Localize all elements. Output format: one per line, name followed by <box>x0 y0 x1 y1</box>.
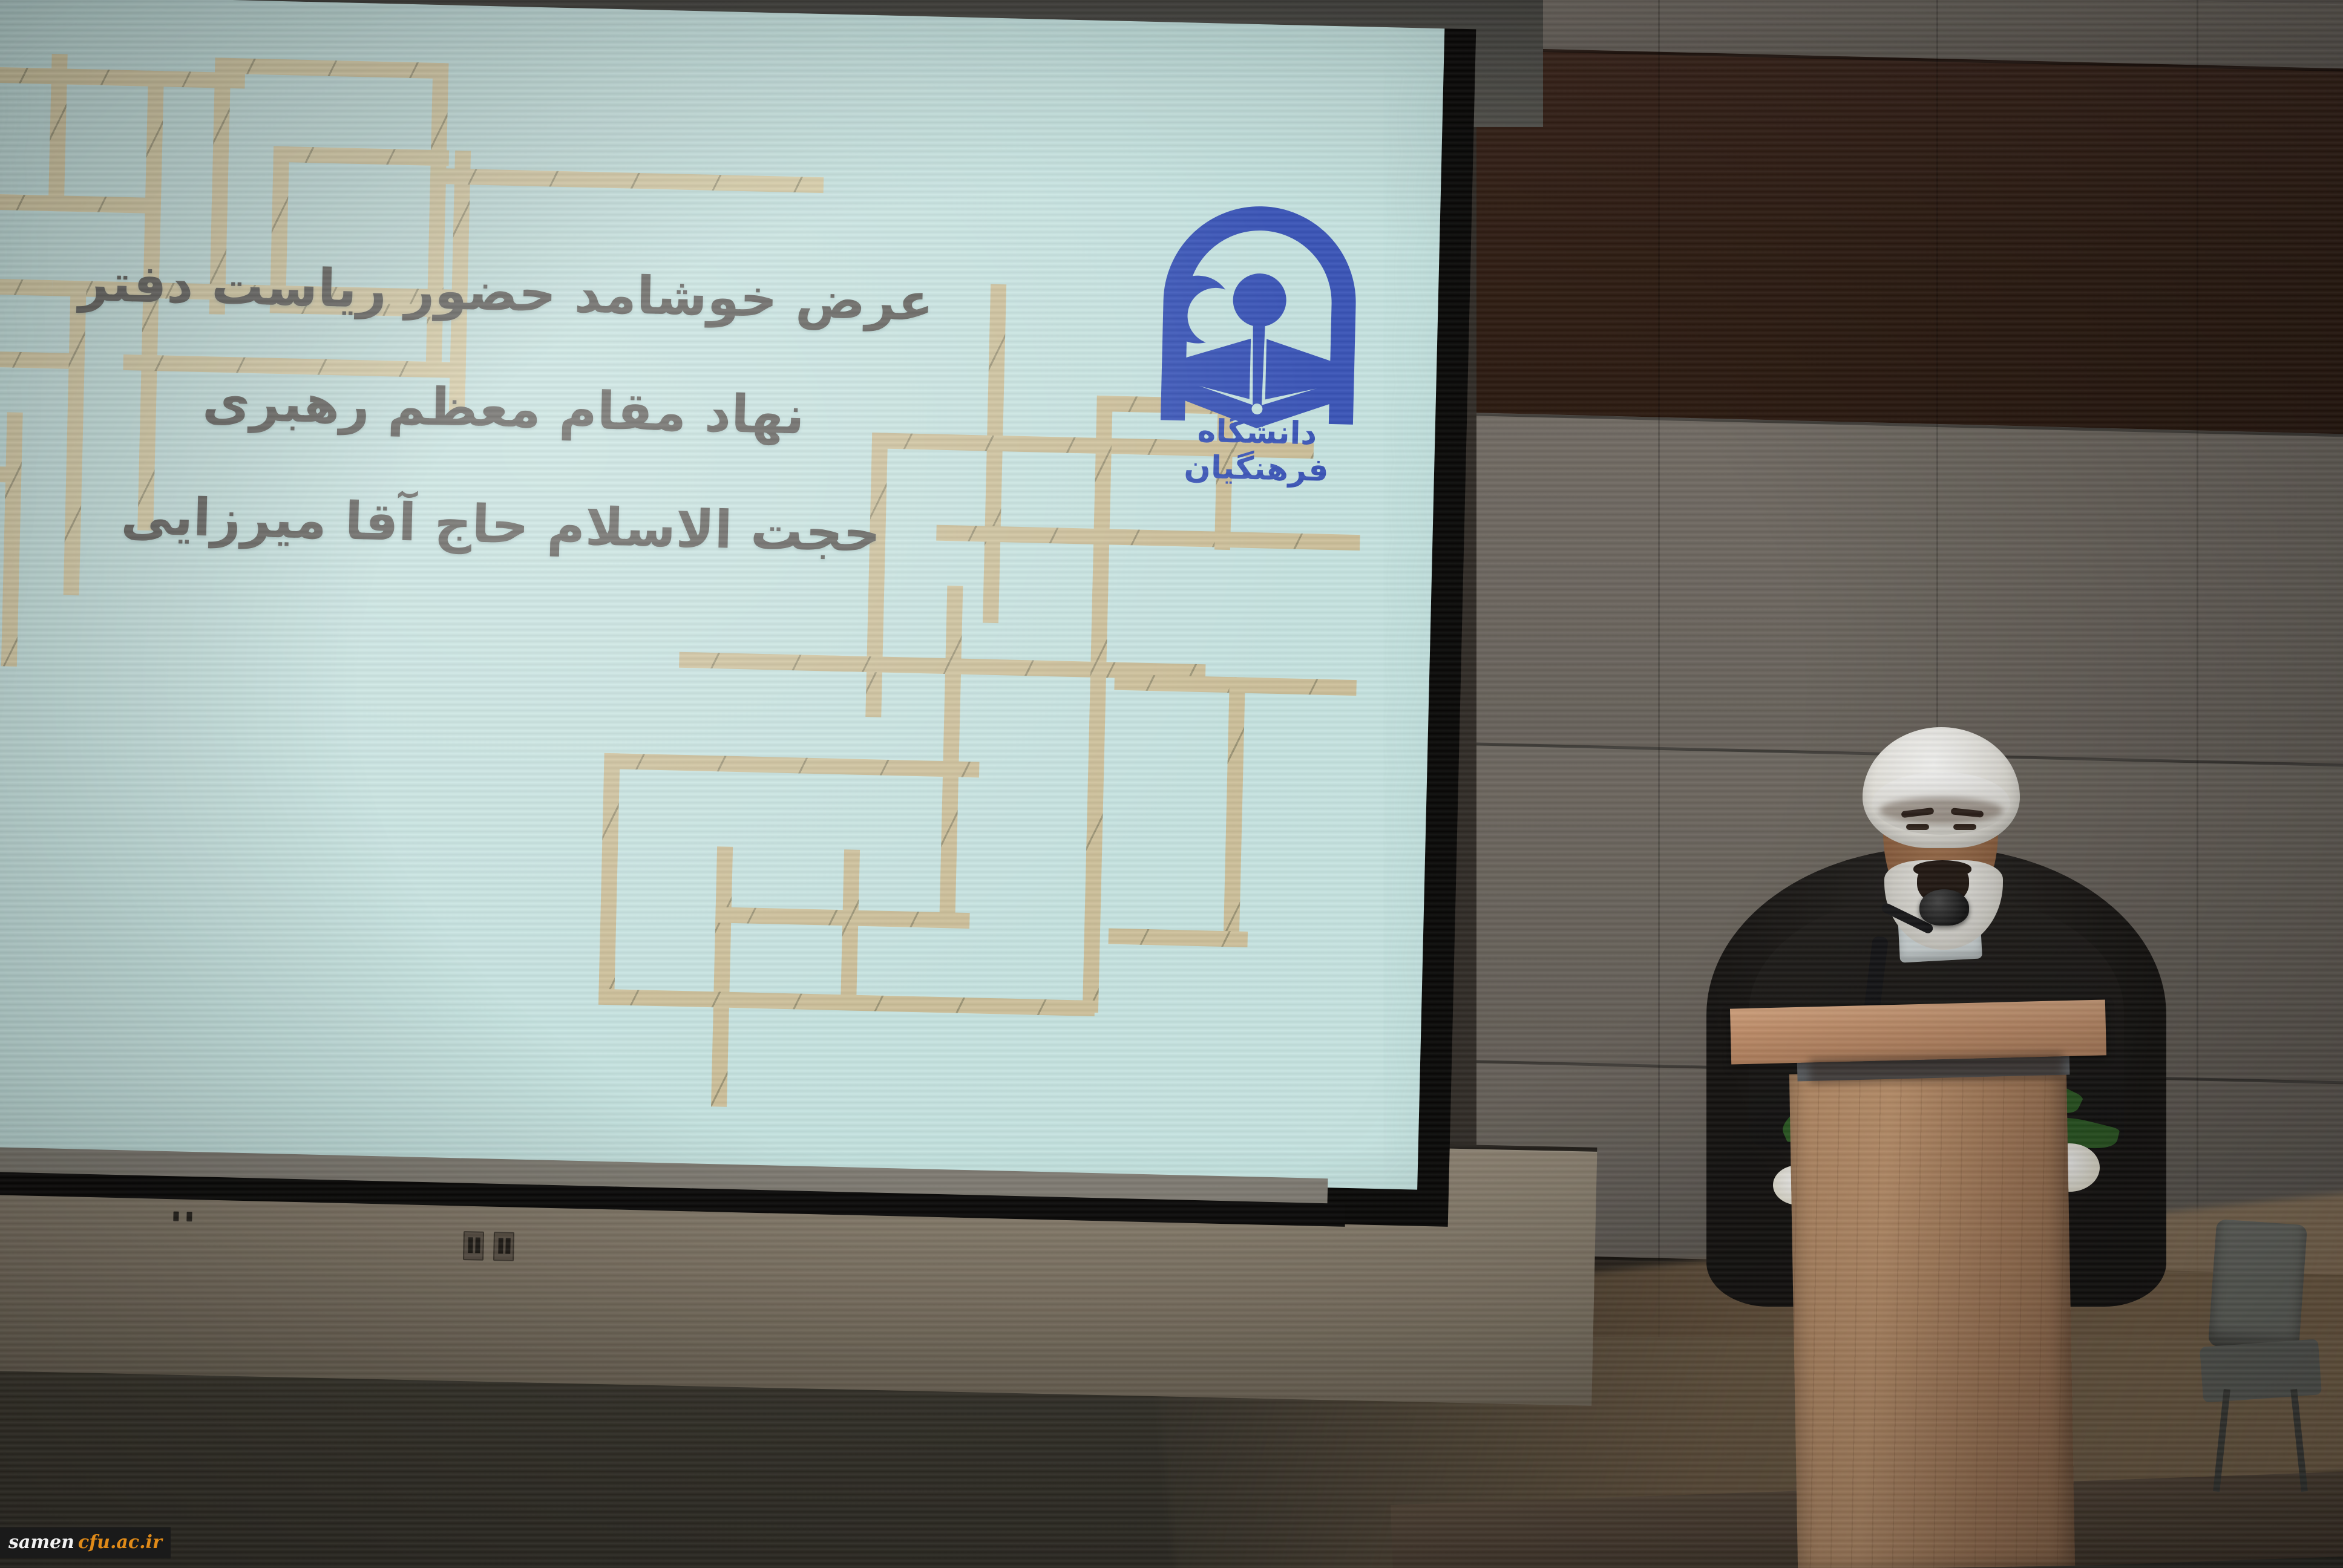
auditorium-photo: دانشگاه فرهنگیان عرض خوشامد حضور ریاست د… <box>0 0 2343 1568</box>
farhangian-university-logo: دانشگاه فرهنگیان <box>1155 197 1362 498</box>
turban-shadow <box>1879 797 2003 824</box>
ornament-bar <box>939 586 963 924</box>
slide-line-3: حجت الاسلام حاج آقا میرزایی <box>71 489 931 561</box>
ornament-bar <box>841 849 860 1007</box>
ornament-bar <box>48 54 68 212</box>
ornament-bar <box>1083 589 1108 1013</box>
ornament-bar <box>711 846 733 1106</box>
microphone-icon <box>1919 889 1969 926</box>
ornament-bar <box>215 57 445 79</box>
chair-seat <box>2200 1339 2322 1402</box>
ornament-bar <box>212 57 231 215</box>
chair-leg <box>2213 1389 2230 1492</box>
ornament-bar <box>274 146 450 166</box>
speaker-eye-left <box>1906 824 1929 830</box>
site-watermark: samen cfu.ac.ir <box>0 1527 171 1558</box>
ornament-bar <box>1109 929 1248 947</box>
projected-slide: دانشگاه فرهنگیان عرض خوشامد حضور ریاست د… <box>0 0 1444 1190</box>
ornament-bar <box>983 284 1006 623</box>
podium-body <box>1789 1070 2075 1568</box>
ornament-bar <box>1224 677 1245 943</box>
chair <box>2197 1222 2336 1500</box>
ornament-bar <box>1092 396 1113 602</box>
logo-mark <box>1157 197 1362 432</box>
ornament-bar <box>436 168 824 193</box>
chair-backrest <box>2208 1219 2307 1352</box>
slide-line-1: عرض خوشامد حضور ریاست دفتر <box>76 256 937 328</box>
ornament-bar <box>604 753 979 778</box>
wall-outlet <box>463 1231 484 1261</box>
slide-line-2: نهاد مقام معظم رهبری <box>73 373 934 445</box>
slide-text-block: عرض خوشامد حضور ریاست دفتر نهاد مقام معظ… <box>69 256 936 625</box>
wood-grain <box>1789 1070 2075 1568</box>
speaker-mustache <box>1913 860 1971 877</box>
chair-leg <box>2290 1389 2308 1492</box>
ornament-bar <box>1 412 23 666</box>
projection-screen-assembly: دانشگاه فرهنگیان عرض خوشامد حضور ریاست د… <box>0 0 1488 1245</box>
ornament-bar <box>679 652 849 672</box>
ornament-bar <box>0 192 157 214</box>
watermark-prefix: samen <box>8 1532 74 1553</box>
ornament-bar <box>0 65 245 88</box>
white-turban <box>1863 727 2020 848</box>
watermark-suffix: cfu.ac.ir <box>78 1532 162 1553</box>
wall-panel-wood-band <box>1476 47 2343 457</box>
speaker-eye-right <box>1953 824 1976 830</box>
ornament-bar <box>598 753 620 996</box>
logo-caption: دانشگاه فرهنگیان <box>1153 412 1360 489</box>
wall-outlet <box>493 1232 514 1261</box>
podium <box>1743 1004 2118 1568</box>
ornament-bar <box>0 276 53 296</box>
